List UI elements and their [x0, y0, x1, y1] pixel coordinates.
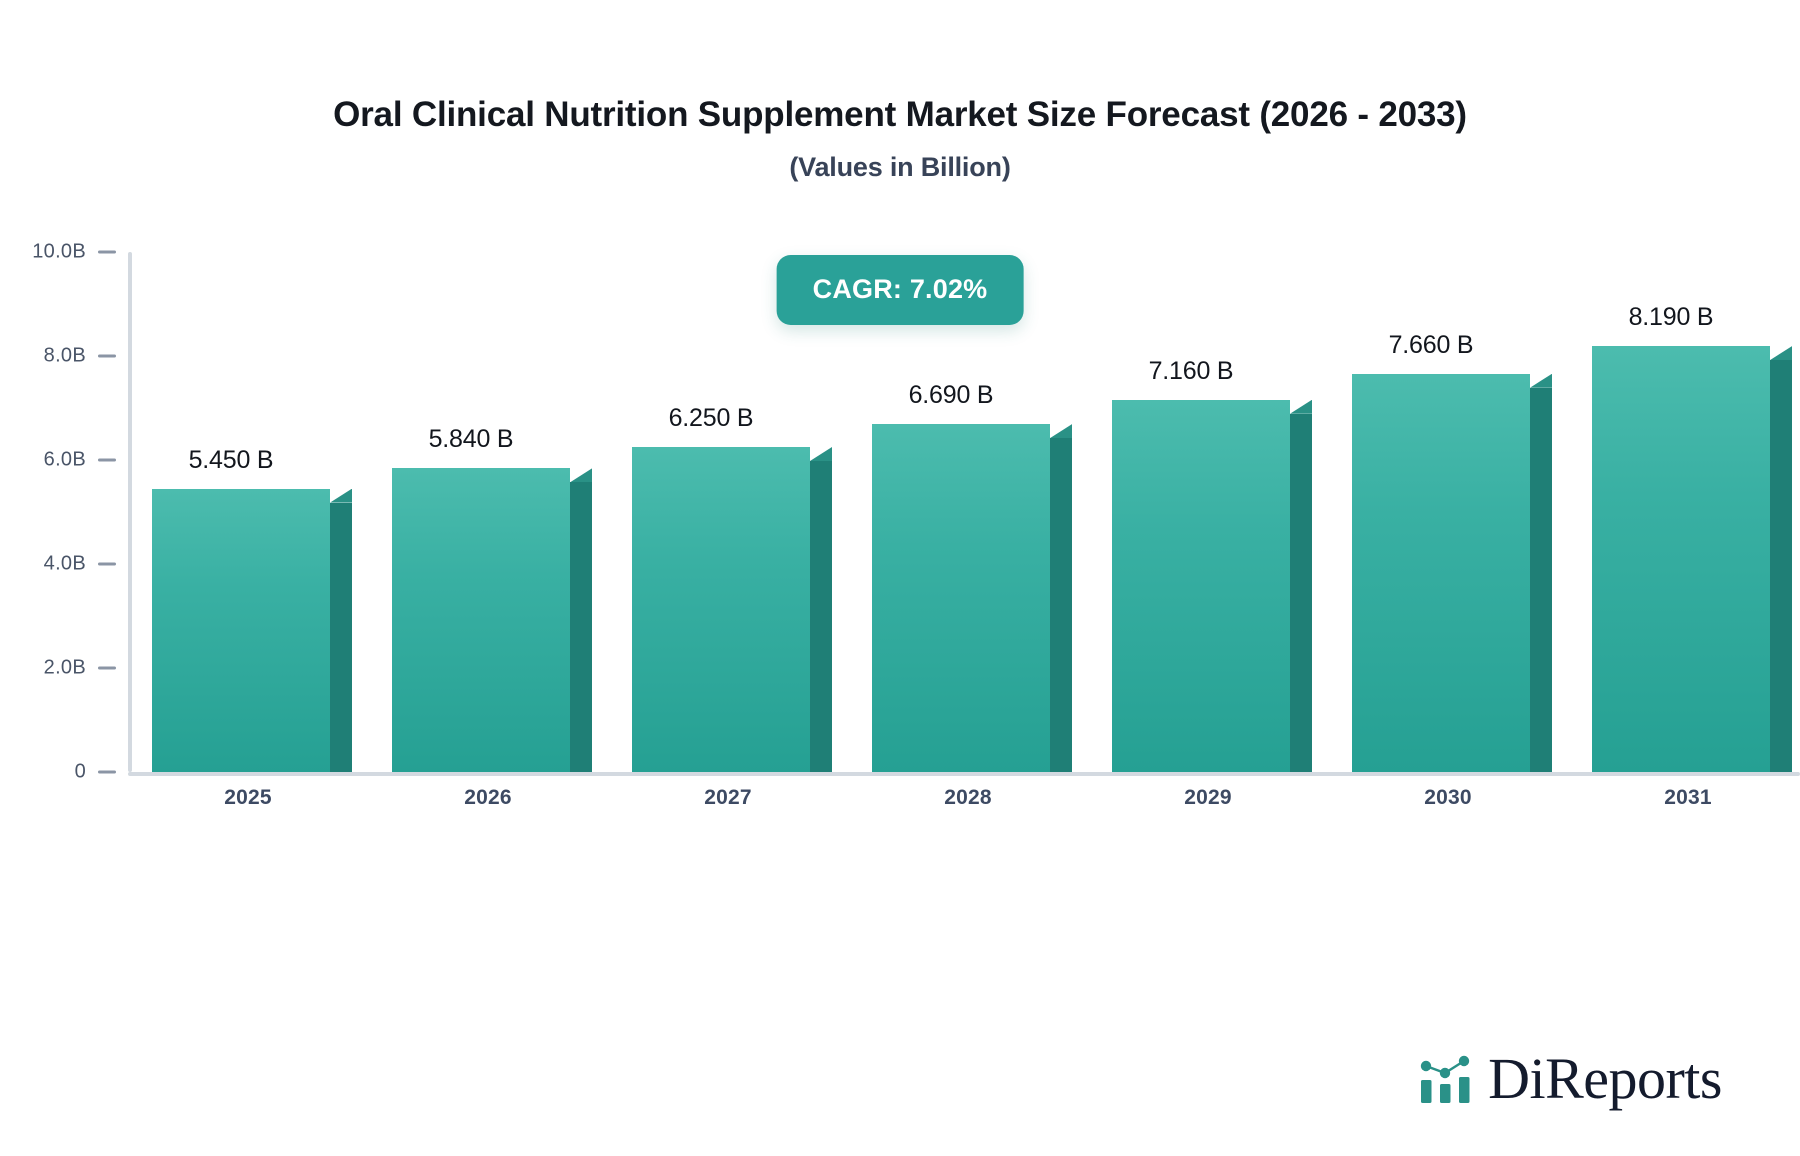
x-axis-tick-label: 2030 — [1424, 786, 1472, 810]
bar-front-face — [872, 424, 1050, 772]
logo-text: DiReports — [1488, 1050, 1722, 1108]
x-axis-tick-label: 2025 — [224, 786, 272, 810]
bar-column[interactable] — [1112, 400, 1312, 772]
bar-front-face — [1352, 374, 1530, 772]
bar-column[interactable] — [632, 447, 832, 772]
x-axis-tick-label: 2026 — [464, 786, 512, 810]
bar-side-face — [570, 482, 592, 772]
direports-logo: DiReports — [1418, 1050, 1722, 1108]
bar-value-label: 5.450 B — [142, 446, 320, 475]
plot-area: 5.450 B5.840 B6.250 B6.690 B7.160 B7.660… — [128, 252, 1508, 772]
y-axis-tick-mark — [98, 771, 116, 774]
bar-top-bevel — [1770, 346, 1792, 360]
bar-chart-icon — [1418, 1053, 1478, 1105]
x-axis-tick-label: 2027 — [704, 786, 752, 810]
bar-value-label: 6.690 B — [862, 381, 1040, 410]
bar-column[interactable] — [392, 468, 592, 772]
bar-side-face — [1050, 438, 1072, 772]
y-axis-tick-label: 4.0B — [44, 553, 86, 576]
bar-top-bevel — [810, 447, 832, 461]
bar-column[interactable] — [872, 424, 1072, 772]
bar-front-face — [632, 447, 810, 772]
page-title: Oral Clinical Nutrition Supplement Marke… — [0, 96, 1800, 135]
bar-front-face — [152, 489, 330, 772]
x-axis-labels: 2025202620272028202920302031 — [128, 786, 1800, 826]
y-axis-tick-mark — [98, 355, 116, 358]
bar-front-face — [1112, 400, 1290, 772]
bar-top-bevel — [1530, 374, 1552, 388]
bar-side-face — [810, 461, 832, 772]
bar-side-face — [330, 503, 352, 772]
bar-value-label: 7.660 B — [1342, 331, 1520, 360]
bar-side-face — [1770, 360, 1792, 772]
bar-top-bevel — [570, 468, 592, 482]
y-axis-labels: 02.0B4.0B6.0B8.0B10.0B — [0, 252, 128, 772]
bar-column[interactable] — [1352, 374, 1552, 772]
bar-top-bevel — [330, 489, 352, 503]
x-axis-tick-label: 2031 — [1664, 786, 1712, 810]
x-axis-tick-label: 2029 — [1184, 786, 1232, 810]
y-axis-tick-label: 6.0B — [44, 449, 86, 472]
title-block: Oral Clinical Nutrition Supplement Marke… — [0, 96, 1800, 183]
y-axis-tick-mark — [98, 667, 116, 670]
bar-front-face — [1592, 346, 1770, 772]
bar-top-bevel — [1290, 400, 1312, 414]
bar-value-label: 5.840 B — [382, 425, 560, 454]
bar-top-bevel — [1050, 424, 1072, 438]
bar-value-label: 7.160 B — [1102, 357, 1280, 386]
chart-canvas: Oral Clinical Nutrition Supplement Marke… — [0, 0, 1800, 1156]
bar-value-label: 8.190 B — [1582, 303, 1760, 332]
bar-value-label: 6.250 B — [622, 404, 800, 433]
y-axis-tick-mark — [98, 563, 116, 566]
x-axis-line — [128, 772, 1800, 776]
y-axis-tick-label: 0 — [75, 761, 86, 784]
y-axis-tick-label: 2.0B — [44, 657, 86, 680]
bar-front-face — [392, 468, 570, 772]
y-axis-tick-label: 10.0B — [32, 241, 86, 264]
bar-column[interactable] — [152, 489, 352, 772]
y-axis-tick-mark — [98, 459, 116, 462]
bar-side-face — [1290, 414, 1312, 772]
bar-column[interactable] — [1592, 346, 1792, 772]
bar-series: 5.450 B5.840 B6.250 B6.690 B7.160 B7.660… — [128, 252, 1800, 772]
x-axis-tick-label: 2028 — [944, 786, 992, 810]
y-axis-tick-mark — [98, 251, 116, 254]
bar-side-face — [1530, 388, 1552, 772]
y-axis-tick-label: 8.0B — [44, 345, 86, 368]
chart-subtitle: (Values in Billion) — [0, 135, 1800, 183]
